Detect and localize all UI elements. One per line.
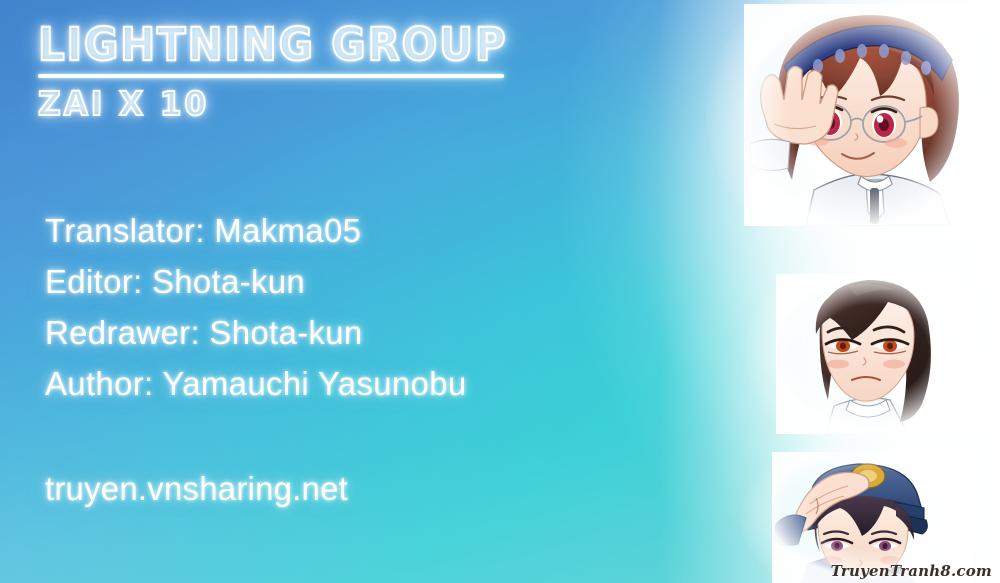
credit-editor: Editor: Shota-kun <box>45 256 467 307</box>
credit-author: Author: Yamauchi Yasunobu <box>45 358 467 409</box>
site-url[interactable]: truyen.vnsharing.net <box>45 470 348 508</box>
character-girl-with-glasses-waving <box>744 4 980 226</box>
credit-redrawer: Redrawer: Shota-kun <box>45 307 467 358</box>
character-woman-annoyed <box>776 274 968 434</box>
group-title: LIGHTNING GROUP <box>38 22 507 67</box>
title-block: LIGHTNING GROUP ZAI X 10 <box>38 22 543 120</box>
series-subtitle: ZAI X 10 <box>38 87 518 120</box>
credits-list: Translator: Makma05 Editor: Shota-kun Re… <box>45 205 467 409</box>
title-underline <box>38 74 504 78</box>
character-art-2 <box>776 274 968 434</box>
character-art-1 <box>744 4 980 226</box>
site-watermark: TruyenTranh8.com <box>831 562 992 580</box>
credit-translator: Translator: Makma05 <box>45 205 467 256</box>
credits-page: LIGHTNING GROUP ZAI X 10 Translator: Mak… <box>0 0 1000 583</box>
